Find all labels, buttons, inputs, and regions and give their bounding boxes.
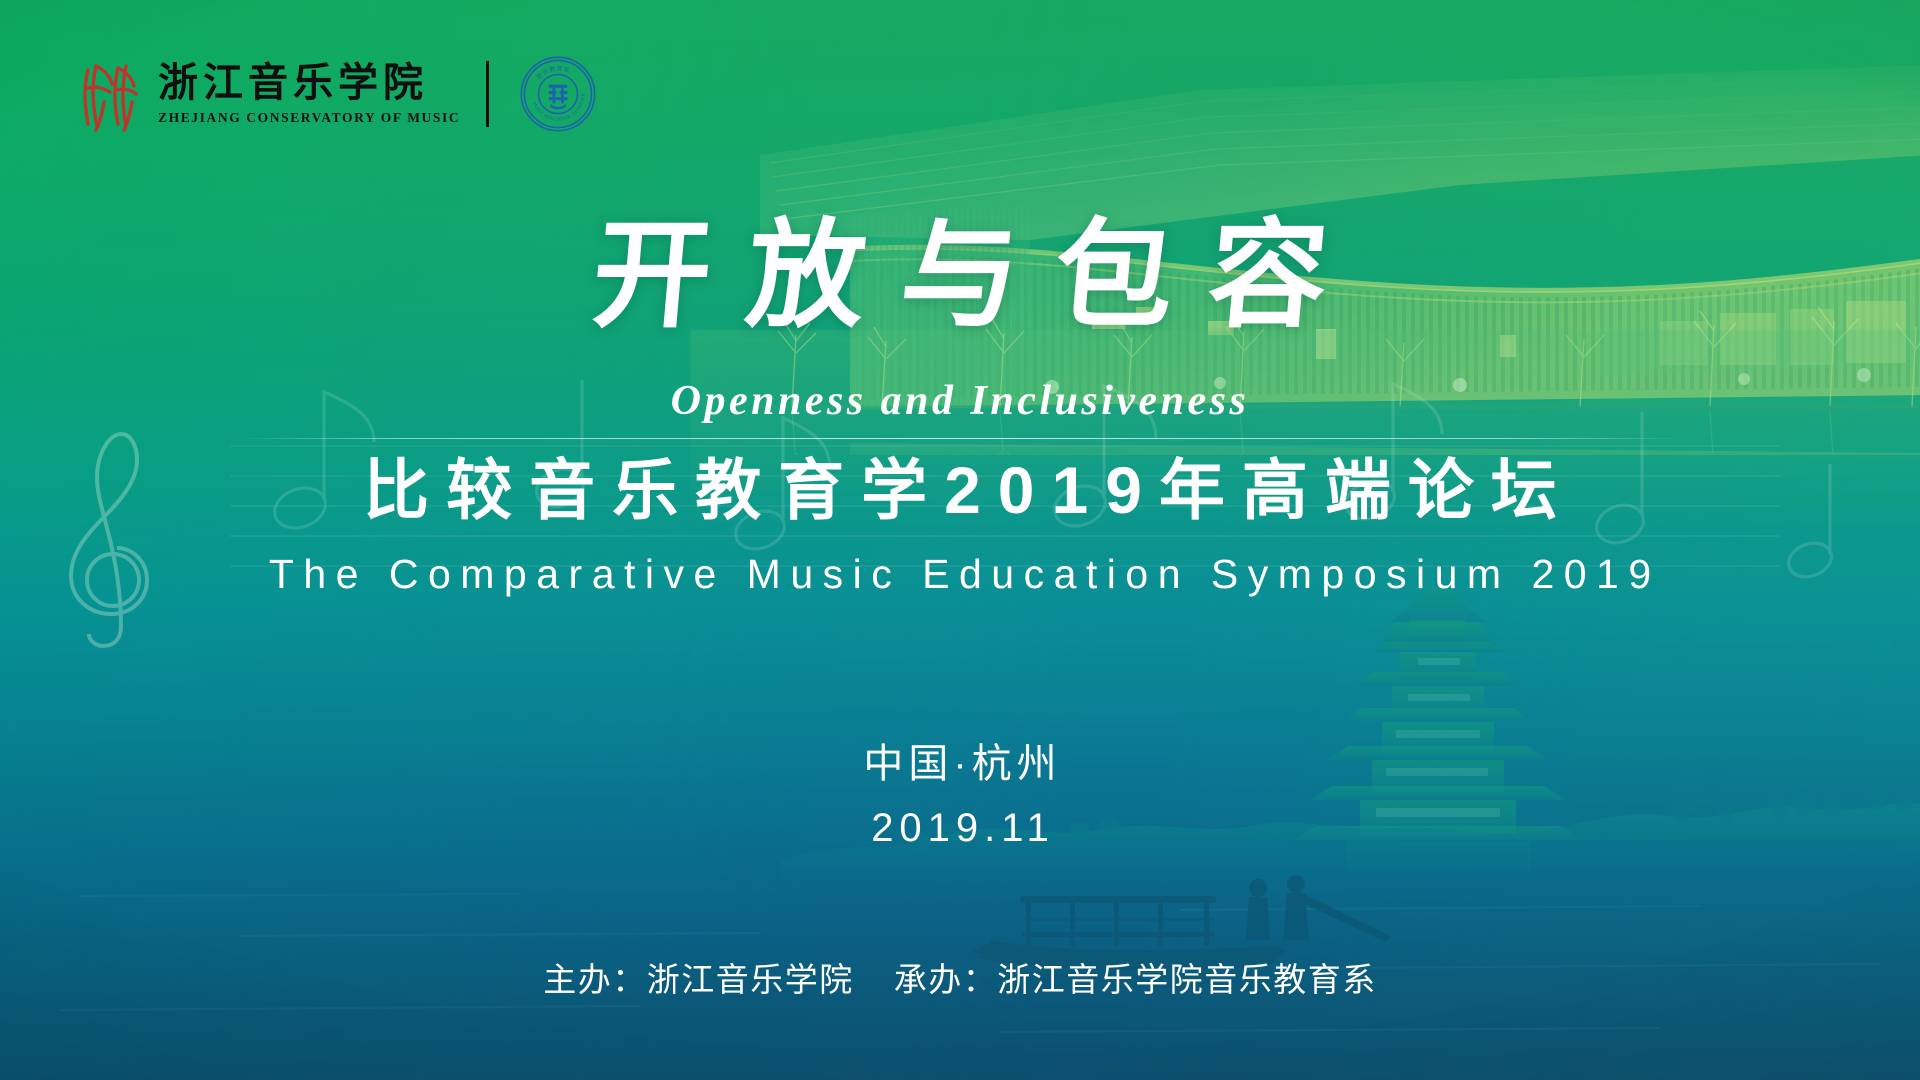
- conference-poster: 浙江音乐学院 ZHEJIANG CONSERVATORY OF MUSIC: [0, 0, 1920, 1080]
- event-date: 2019.11: [0, 806, 1920, 850]
- zcm-seal-icon: [78, 54, 142, 134]
- institution-name-en: ZHEJIANG CONSERVATORY OF MUSIC: [158, 110, 460, 126]
- institution-wordmark: 浙江音乐学院 ZHEJIANG CONSERVATORY OF MUSIC: [158, 62, 460, 126]
- svg-text:音乐教育系: 音乐教育系: [535, 64, 572, 81]
- institution-name-cn: 浙江音乐学院: [158, 62, 460, 104]
- coorganizer-label: 承办：: [894, 961, 998, 998]
- host-label: 主办：: [543, 961, 647, 998]
- music-education-department-seal-icon: 音乐教育系 MUSIC EDUCATION DEPARTMENT: [519, 55, 597, 133]
- headline-divider: [236, 438, 1684, 439]
- title-cn: 比较音乐教育学2019年高端论坛: [0, 452, 1920, 529]
- host-name: 浙江音乐学院: [647, 961, 854, 998]
- coorganizer-name: 浙江音乐学院音乐教育系: [997, 961, 1377, 998]
- headline-en: Openness and Inclusiveness: [0, 380, 1920, 422]
- logo-divider: [486, 61, 489, 127]
- title-en: The Comparative Music Education Symposiu…: [0, 552, 1920, 597]
- organizers-line: 主办：浙江音乐学院承办：浙江音乐学院音乐教育系: [0, 962, 1920, 998]
- logo-bar: 浙江音乐学院 ZHEJIANG CONSERVATORY OF MUSIC: [78, 48, 597, 140]
- headline-cn: 开放与包容: [0, 218, 1920, 336]
- event-place: 中国·杭州: [0, 742, 1920, 786]
